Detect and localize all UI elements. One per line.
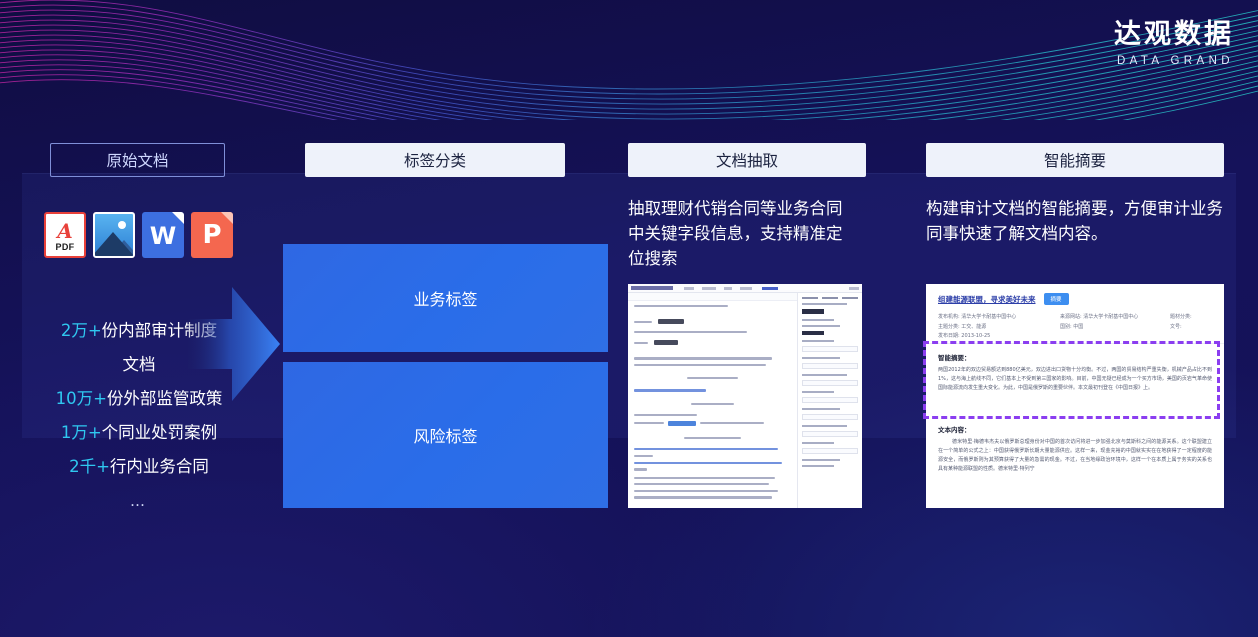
tag-box-business[interactable]: 业务标签 xyxy=(283,244,608,352)
doc-viewer-titlebar xyxy=(628,284,862,293)
stat-ellipsis: … xyxy=(0,484,278,518)
stat-number: 2万 xyxy=(61,321,88,340)
word-file-icon: W xyxy=(142,212,184,258)
doc-viewer-page xyxy=(634,305,791,504)
stat-number: 10万 xyxy=(56,389,94,408)
image-file-icon xyxy=(93,212,135,258)
meta-key: 文号: xyxy=(1170,324,1182,330)
summary-doc-title-row: 组建能源联盟，寻求美好未来 摘要 xyxy=(938,293,1212,305)
flow-arrow-icon xyxy=(188,285,280,403)
summary-doc-header: 组建能源联盟，寻求美好未来 摘要 发布机构: 清华大学卡耐基中国中心 来源网站:… xyxy=(926,284,1224,344)
doc-viewer-toolbar xyxy=(628,293,797,301)
header-document-extraction: 文档抽取 xyxy=(628,143,866,177)
summary-highlight-dashed-box xyxy=(923,341,1220,419)
column-tag-classification: 标签分类 业务标签 风险标签 xyxy=(288,0,618,637)
description-document-extraction: 抽取理财代销合同等业务合同中关键字段信息，支持精准定位搜索 xyxy=(628,196,850,271)
meta-value: 2013-10-25 xyxy=(961,333,990,339)
header-source-documents: 原始文档 xyxy=(50,143,225,177)
powerpoint-file-icon: P xyxy=(191,212,233,258)
stat-plus: + xyxy=(88,423,102,442)
stat-row: 1万+个同业处罚案例 xyxy=(0,416,278,450)
summary-doc-metadata: 发布机构: 清华大学卡耐基中国中心 来源网站: 清华大学卡耐基中国中心 题材分类… xyxy=(938,313,1212,342)
stat-row: 2千+行内业务合同 xyxy=(0,450,278,484)
meta-key: 主题分类: xyxy=(938,324,960,330)
metadata-row: 发布机构: 清华大学卡耐基中国中心 来源网站: 清华大学卡耐基中国中心 题材分类… xyxy=(938,313,1212,323)
meta-key: 发布日期: xyxy=(938,333,960,339)
stat-text: 文档 xyxy=(123,355,156,374)
meta-value: 工交、能源 xyxy=(961,324,986,330)
doc-viewer-fields-sidebar[interactable] xyxy=(798,293,862,508)
word-file-icon-letter: W xyxy=(142,224,184,248)
stat-plus: + xyxy=(93,389,107,408)
column-source-documents: 原始文档 A W P 2万+份内部审计制度 文档 10万+份外部监管政策 1万+… xyxy=(0,0,288,637)
body-section-text: 德米特里·梅德韦杰夫以俄罗斯总理身份对中国的首次访问将进一步加强北京与莫斯科之间… xyxy=(938,438,1212,474)
sidebar-tabs[interactable] xyxy=(802,297,858,299)
meta-key: 国别: xyxy=(1060,324,1072,330)
document-extraction-screenshot[interactable] xyxy=(628,284,862,508)
header-intelligent-summary: 智能摘要 xyxy=(926,143,1224,177)
description-intelligent-summary: 构建审计文档的智能摘要，方便审计业务同事快速了解文档内容。 xyxy=(926,196,1226,246)
powerpoint-file-icon-letter: P xyxy=(191,222,233,248)
sidebar-tab[interactable] xyxy=(842,297,858,299)
doc-viewer-page-pane[interactable] xyxy=(628,293,798,508)
column-document-extraction: 文档抽取 抽取理财代销合同等业务合同中关键字段信息，支持精准定位搜索 xyxy=(618,0,918,637)
summary-doc-title[interactable]: 组建能源联盟，寻求美好未来 xyxy=(938,294,1036,305)
pdf-file-icon: A xyxy=(44,212,86,258)
body-section: 文本内容： 德米特里·梅德韦杰夫以俄罗斯总理身份对中国的首次访问将进一步加强北京… xyxy=(926,416,1224,508)
meta-key: 题材分类: xyxy=(1170,314,1192,320)
meta-value: 清华大学卡耐基中国中心 xyxy=(1083,314,1138,320)
file-type-icons: A W P xyxy=(44,212,233,258)
metadata-row: 主题分类: 工交、能源 国别: 中国 文号: xyxy=(938,323,1212,333)
meta-value: 清华大学卡耐基中国中心 xyxy=(961,314,1016,320)
stat-plus: + xyxy=(96,457,110,476)
header-tag-classification: 标签分类 xyxy=(305,143,565,177)
stat-text: 行内业务合同 xyxy=(110,457,209,476)
stat-number: 1万 xyxy=(61,423,88,442)
sidebar-tab[interactable] xyxy=(822,297,838,299)
meta-value: 中国 xyxy=(1073,324,1083,330)
stat-plus: + xyxy=(88,321,102,340)
meta-key: 来源网站: xyxy=(1060,314,1082,320)
sidebar-tab[interactable] xyxy=(802,297,818,299)
stat-number: 2千 xyxy=(69,457,96,476)
stat-text: 个同业处罚案例 xyxy=(102,423,218,442)
column-intelligent-summary: 智能摘要 构建审计文档的智能摘要，方便审计业务同事快速了解文档内容。 组建能源联… xyxy=(918,0,1258,637)
body-section-label: 文本内容： xyxy=(938,424,1212,434)
meta-key: 发布机构: xyxy=(938,314,960,320)
tag-box-risk[interactable]: 风险标签 xyxy=(283,362,608,508)
summary-badge-button[interactable]: 摘要 xyxy=(1044,293,1069,305)
